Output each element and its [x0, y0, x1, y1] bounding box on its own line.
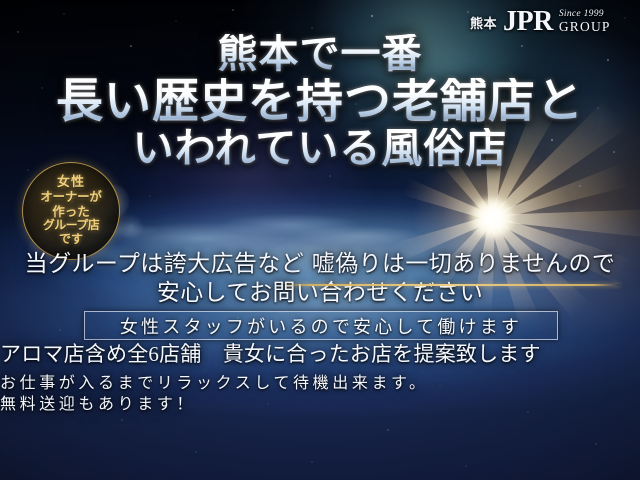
body-line-5: 無料送迎もあります！ [0, 396, 640, 414]
body-line-3: アロマ店含め全6店舗 貴女に合ったお店を提案致します [0, 343, 640, 367]
female-owner-badge: 女性 オーナーが 作った グループ店 です [22, 162, 120, 260]
badge-line-4: グループ店 [43, 219, 99, 233]
headline: 熊本で一番 長い歴史を持つ老舗店と いわれている風俗店 [0, 34, 640, 169]
brand-logo[interactable]: 熊本 JPR Since 1999 GROUP [470, 8, 611, 36]
boxed-highlight: 女性スタッフがいるので安心して働けます [84, 311, 558, 340]
headline-line-3: いわれている風俗店 [0, 128, 640, 169]
headline-line-2: 長い歴史を持つ老舗店と [0, 78, 640, 125]
badge-line-2: オーナーが [40, 190, 102, 204]
gold-underline [283, 284, 620, 286]
headline-line-1: 熊本で一番 [0, 34, 640, 74]
logo-tagline-group: Since 1999 GROUP [559, 10, 611, 34]
badge-line-5: です [59, 233, 83, 247]
logo-kanji: 熊本 [470, 13, 497, 32]
logo-wordmark: JPR [503, 8, 553, 36]
lens-flare-bokeh [118, 214, 144, 240]
promotional-banner: 熊本 JPR Since 1999 GROUP 熊本で一番 長い歴史を持つ老舗店… [0, 0, 640, 480]
boxed-highlight-text: 女性スタッフがいるので安心して働けます [120, 313, 522, 339]
badge-line-3: 作った [52, 205, 90, 219]
sun-core [470, 198, 514, 238]
logo-group: GROUP [559, 20, 611, 34]
body-line-4: お仕事が入るまでリラックスして待機出来ます。 [0, 375, 640, 393]
body-line-1: 当グループは誇大広告など 嘘偽りは一切ありませんので [0, 252, 640, 278]
body-copy: 当グループは誇大広告など 嘘偽りは一切ありませんので 安心してお問い合わせくださ… [0, 252, 640, 307]
